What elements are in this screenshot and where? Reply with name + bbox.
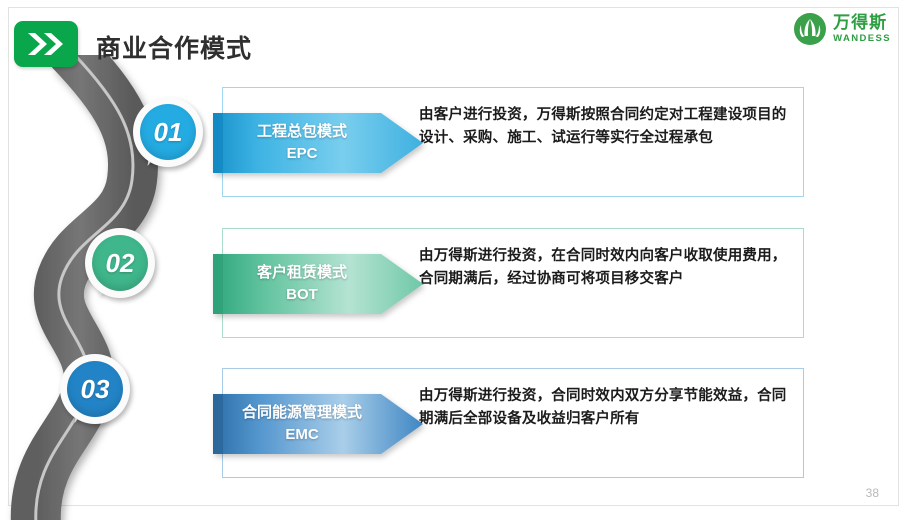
arrow-banner-epc: [213, 107, 425, 179]
pin-number: 03: [67, 361, 123, 417]
slide-canvas: 商业合作模式 万得斯 WANDESS: [0, 0, 909, 520]
arrow-banner-emc: [213, 388, 425, 460]
mode-card-epc: 工程总包模式 EPC 由客户进行投资，万得斯按照合同约定对工程建设项目的设计、采…: [222, 87, 804, 197]
card-description: 由万得斯进行投资，在合同时效内向客户收取使用费用，合同期满后，经过协商可将项目移…: [419, 245, 789, 292]
logo-text-en: WANDESS: [833, 34, 891, 44]
mode-card-emc: 合同能源管理模式 EMC 由万得斯进行投资，合同时效内双方分享节能效益，合同期满…: [222, 368, 804, 478]
pin-number: 02: [92, 235, 148, 291]
arrow-banner-bot: [213, 248, 425, 320]
page-number: 38: [866, 486, 879, 500]
mode-card-bot: 客户租赁模式 BOT 由万得斯进行投资，在合同时效内向客户收取使用费用，合同期满…: [222, 228, 804, 338]
step-pin-03[interactable]: 03: [60, 354, 130, 424]
logo-text-cn: 万得斯: [833, 14, 891, 31]
card-description: 由客户进行投资，万得斯按照合同约定对工程建设项目的设计、采购、施工、试运行等实行…: [419, 104, 789, 151]
step-pin-01[interactable]: 01: [133, 97, 203, 167]
page-title: 商业合作模式: [96, 29, 252, 65]
card-description: 由万得斯进行投资，合同时效内双方分享节能效益，合同期满后全部设备及收益归客户所有: [419, 385, 789, 432]
pin-number: 01: [140, 104, 196, 160]
leaf-emblem-icon: [793, 12, 827, 46]
double-chevron-right-icon: [14, 21, 78, 67]
step-pin-02[interactable]: 02: [85, 228, 155, 298]
title-divider: [96, 72, 786, 73]
brand-logo: 万得斯 WANDESS: [793, 12, 891, 46]
